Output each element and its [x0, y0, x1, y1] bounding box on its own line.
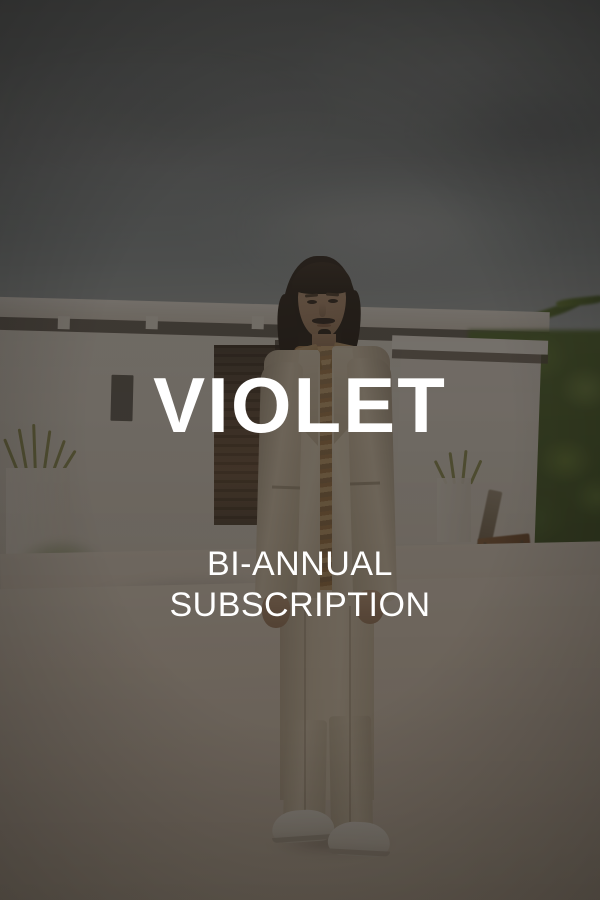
vignette-layer	[0, 0, 600, 900]
subscription-poster: VIOLET BI-ANNUAL SUBSCRIPTION	[0, 0, 600, 900]
